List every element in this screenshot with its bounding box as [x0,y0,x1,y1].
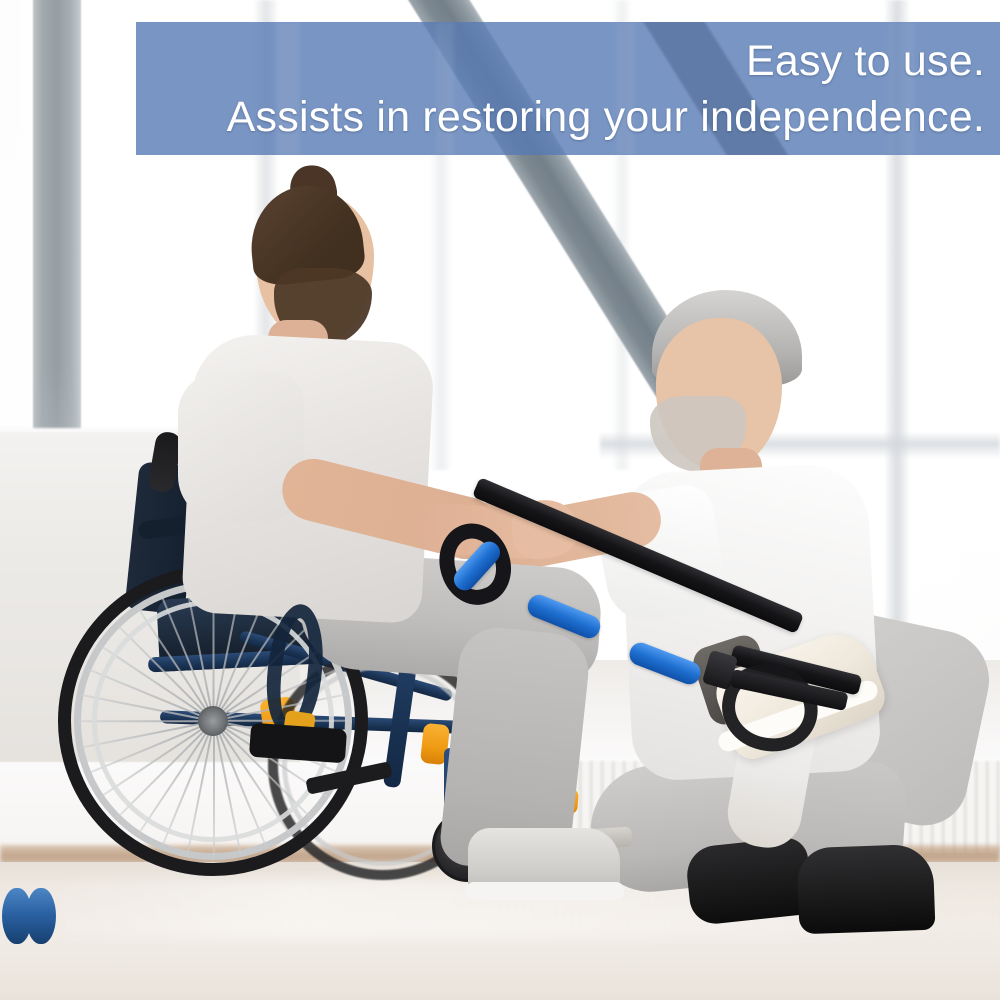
leg-lift-strap-product [430,505,900,745]
blue-dumbbell [2,888,64,946]
marketing-banner: Easy to use. Assists in restoring your i… [136,22,1000,155]
dumbbell-plate [26,888,56,944]
banner-headline-line1: Easy to use. [746,33,985,89]
banner-text-block: Easy to use. Assists in restoring your i… [136,22,1000,155]
structural-pillar [33,0,81,450]
strap-foam-handle [524,592,603,642]
strap-loop-base [249,723,347,764]
product-lifestyle-image: Easy to use. Assists in restoring your i… [0,0,1000,1000]
banner-headline-line2: Assists in restoring your independence. [227,89,985,145]
caregiver-shoe-back [684,836,813,926]
strap-foam-handle [626,640,703,688]
caregiver-shoe-front [797,844,936,935]
user-shoe-sole [466,882,624,900]
